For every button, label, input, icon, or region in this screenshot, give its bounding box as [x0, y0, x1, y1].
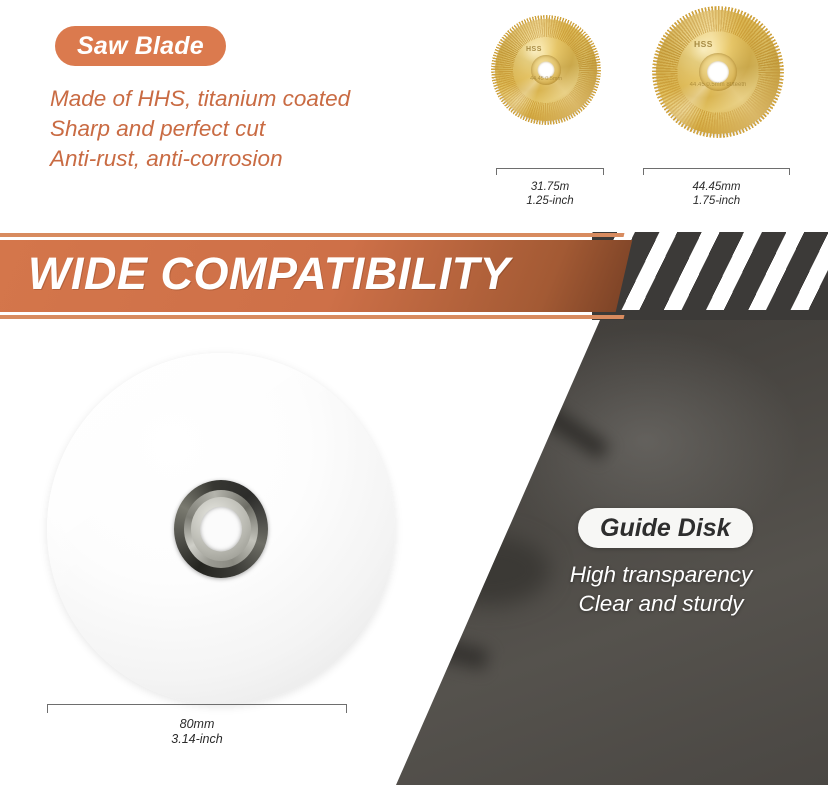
large-blade-dimension-mm: 44.45mm [643, 180, 790, 194]
saw-blade-feature-2: Sharp and perfect cut [50, 114, 480, 144]
saw-blade-feature-1: Made of HHS, titanium coated [50, 84, 480, 114]
guide-disk-section: Guide Disk High transparency Clear and s… [0, 320, 828, 785]
guide-disk-dimension-mm: 80mm [47, 716, 347, 732]
small-saw-blade-image: HSS 44.45 0.5mm [495, 19, 597, 121]
large-blade-spec-mark: 44.45 0.5mm 80teeth [686, 82, 750, 89]
small-blade-dimension-bracket [496, 168, 604, 175]
banner-accent-line-top [0, 233, 624, 237]
banner-stripes-base [592, 310, 828, 320]
product-infographic: Saw Blade Made of HHS, titanium coated S… [0, 0, 828, 785]
large-blade-brand-mark: HSS [694, 39, 713, 49]
guide-disk-feature-1: High transparency [516, 560, 806, 589]
guide-disk-dimension-inch: 3.14-inch [47, 731, 347, 747]
small-blade-dimension-mm: 31.75m [496, 180, 604, 194]
saw-blade-section: Saw Blade Made of HHS, titanium coated S… [0, 0, 828, 232]
saw-blade-feature-3: Anti-rust, anti-corrosion [50, 144, 480, 174]
saw-blade-title-pill: Saw Blade [55, 26, 226, 66]
large-saw-blade-image: HSS 44.45 0.5mm 80teeth [656, 10, 780, 134]
guide-disk-dimension-bracket [47, 704, 347, 713]
large-blade-dimension-inch: 1.75-inch [643, 194, 790, 208]
banner-accent-line-bottom [0, 315, 624, 319]
guide-disk-title-pill: Guide Disk [578, 508, 753, 548]
large-blade-dimension-bracket [643, 168, 790, 175]
small-blade-spec-mark: 44.45 0.5mm [521, 76, 571, 82]
small-blade-body: HSS 44.45 0.5mm [495, 19, 597, 121]
guide-disk-feature-list: High transparency Clear and sturdy [516, 560, 806, 618]
small-blade-brand-mark: HSS [526, 46, 542, 53]
small-blade-dimension-inch: 1.25-inch [496, 194, 604, 208]
saw-blade-feature-list: Made of HHS, titanium coated Sharp and p… [50, 84, 480, 174]
guide-disk-bore [200, 507, 242, 552]
wide-compatibility-banner: WIDE COMPATIBILITY [0, 232, 828, 320]
guide-disk-title-label: Guide Disk [600, 514, 731, 543]
guide-disk-feature-2: Clear and sturdy [516, 589, 806, 618]
guide-disk-image [47, 353, 395, 705]
banner-title: WIDE COMPATIBILITY [28, 248, 510, 300]
saw-blade-title-label: Saw Blade [77, 32, 204, 61]
large-blade-body: HSS 44.45 0.5mm 80teeth [656, 10, 780, 134]
large-blade-bore [707, 61, 729, 83]
